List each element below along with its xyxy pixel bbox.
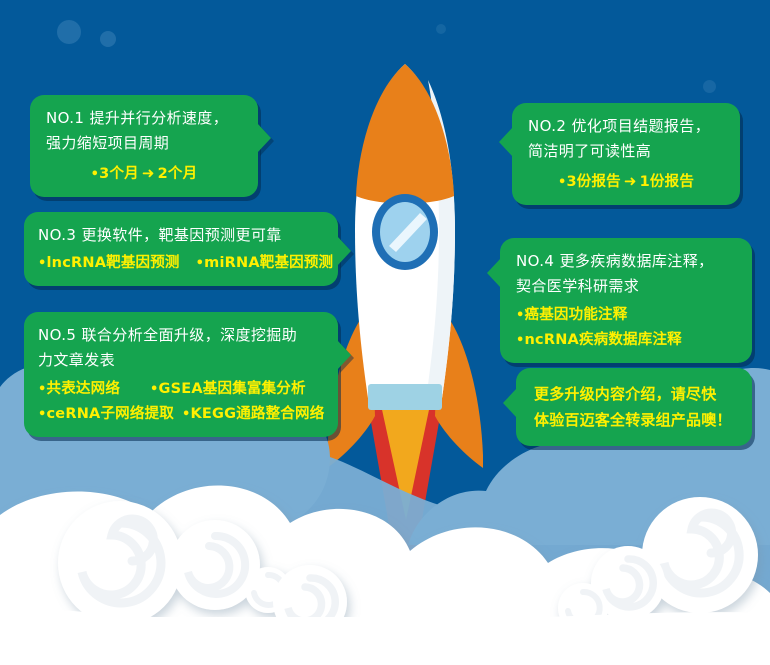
bubble-bullet-row: •3个月➜2个月: [46, 161, 242, 187]
bullet-text-2: 2个月: [158, 166, 198, 182]
bullet-text-2: 1份报告: [640, 174, 694, 190]
bubble-line: NO.2 优化项目结题报告，: [528, 114, 724, 139]
bullet-text: 共表达网络: [47, 381, 121, 397]
bullet-text: GSEA基因集富集分析: [159, 381, 306, 397]
cta-line: 体验百迈客全转录组产品噢！: [534, 407, 736, 433]
nose-cone: [356, 64, 454, 204]
bullet-dot: •: [38, 382, 47, 397]
feature-bubble-no2[interactable]: NO.2 优化项目结题报告， 简洁明了可读性高 •3份报告➜1份报告: [512, 103, 740, 205]
bubble-bullet-row: •lncRNA靶基因预测•miRNA靶基因预测: [38, 251, 326, 276]
bubble-line: 契合医学科研需求: [516, 274, 736, 299]
bullet-text: 3份报告: [566, 174, 620, 190]
bubble-line: NO.4 更多疾病数据库注释，: [516, 249, 736, 274]
feature-bubble-no5[interactable]: NO.5 联合分析全面升级，深度挖掘助 力文章发表 •共表达网络•GSEA基因集…: [24, 312, 338, 437]
bubble-tail: [487, 258, 501, 288]
bullet-dot: •: [516, 308, 525, 323]
bubble-line: NO.5 联合分析全面升级，深度挖掘助: [38, 323, 326, 348]
bullet-dot: •: [196, 256, 205, 271]
bubble-line: 力文章发表: [38, 348, 326, 373]
bullet-dot: •: [91, 167, 100, 182]
bubble-line: 强力缩短项目周期: [46, 131, 242, 156]
bubble-line: 简洁明了可读性高: [528, 139, 724, 164]
bubble-tail: [499, 127, 513, 157]
bubble-line: NO.1 提升并行分析速度，: [46, 106, 242, 131]
bullet-text: 癌基因功能注释: [525, 307, 628, 323]
bullet-dot: •: [516, 333, 525, 348]
bubble-bullet-row: •ceRNA子网络提取•KEGG通路整合网络: [38, 402, 326, 427]
arrow-icon: ➜: [139, 164, 158, 182]
arrow-icon: ➜: [621, 172, 640, 190]
bullet-text: KEGG通路整合网络: [190, 406, 324, 422]
bubble-tail: [337, 236, 351, 266]
bubble-bullet-row: •癌基因功能注释: [516, 303, 736, 328]
bullet-text: 3个月: [99, 166, 139, 182]
bubble-line: NO.3 更换软件，靶基因预测更可靠: [38, 223, 326, 248]
bubble-tail: [257, 123, 271, 153]
bullet-dot: •: [150, 382, 159, 397]
infographic-canvas: NO.1 提升并行分析速度， 强力缩短项目周期 •3个月➜2个月 NO.2 优化…: [0, 0, 770, 665]
feature-bubble-no4[interactable]: NO.4 更多疾病数据库注释， 契合医学科研需求 •癌基因功能注释 •ncRNA…: [500, 238, 752, 363]
feature-bubble-no3[interactable]: NO.3 更换软件，靶基因预测更可靠 •lncRNA靶基因预测•miRNA靶基因…: [24, 212, 338, 286]
feature-bubble-no1[interactable]: NO.1 提升并行分析速度， 强力缩短项目周期 •3个月➜2个月: [30, 95, 258, 197]
bullet-dot: •: [38, 256, 47, 271]
bubble-bullet-row: •ncRNA疾病数据库注释: [516, 328, 736, 353]
bubble-bullet-row: •共表达网络•GSEA基因集富集分析: [38, 377, 326, 402]
bubble-tail: [503, 388, 517, 418]
bullet-dot: •: [38, 407, 47, 422]
bubble-bullet-row: •3份报告➜1份报告: [528, 169, 724, 195]
bullet-text: miRNA靶基因预测: [204, 255, 333, 271]
bullet-text: lncRNA靶基因预测: [47, 255, 180, 271]
bubble-tail: [337, 340, 351, 370]
bullet-text: ceRNA子网络提取: [47, 406, 174, 422]
bullet-text: ncRNA疾病数据库注释: [525, 332, 682, 348]
cta-line: 更多升级内容介绍，请尽快: [534, 381, 736, 407]
cta-bubble[interactable]: 更多升级内容介绍，请尽快 体验百迈客全转录组产品噢！: [516, 368, 752, 446]
